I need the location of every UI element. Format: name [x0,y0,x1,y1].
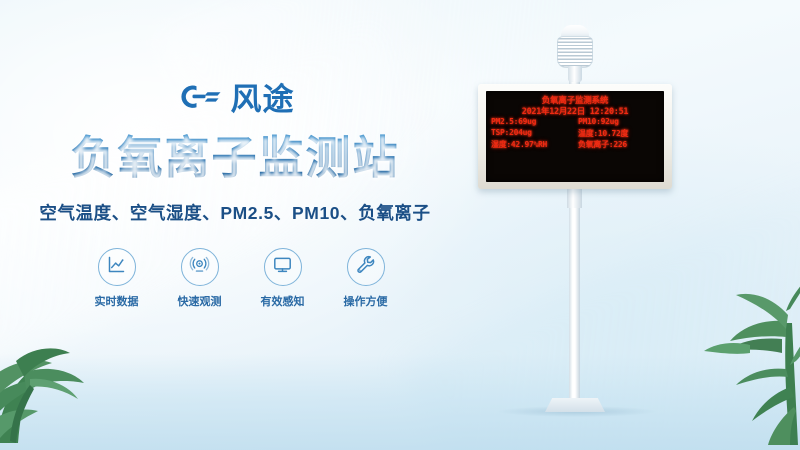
feature-label: 实时数据 [86,293,148,309]
feature-icon-frame [347,248,385,286]
radiation-shield-sensor-icon [550,25,600,77]
led-reading-pm10: PM10:92ug [578,117,619,126]
hero-subtitle: 空气温度、空气湿度、PM2.5、PM10、负氧离子 [0,200,470,225]
feature-label: 操作方便 [335,293,397,309]
promo-banner: 风途 负氧离子监测站 空气温度、空气湿度、PM2.5、PM10、负氧离子 [0,0,800,450]
line-chart-icon [106,254,127,280]
feature-list: 实时数据 快 [0,248,470,309]
sensor-louvers [557,36,593,68]
fengtu-g-logo-icon [176,82,222,117]
led-display-title: 负氧离子监测系统 [486,94,664,106]
monitor-screen-icon [272,254,293,280]
feature-item-effective-sensing[interactable]: 有效感知 [252,248,314,309]
page-title: 负氧离子监测站 [0,134,470,181]
feature-label: 快速观测 [169,293,231,309]
brand-name: 风途 [231,84,295,115]
feature-item-easy-operation[interactable]: 操作方便 [335,248,397,309]
feature-item-fast-observation[interactable]: 快速观测 [169,248,231,309]
background-ground-gradient [0,354,800,450]
feature-icon-frame [181,248,219,286]
brand-lockup: 风途 [0,78,470,120]
feature-item-realtime-data[interactable]: 实时数据 [86,248,148,309]
led-reading-pm25: PM2.5:69ug [491,117,536,126]
led-reading-negative-ions: 负氧离子:226 [578,139,627,150]
sensor-cap [561,25,589,38]
led-reading-tsp: TSP:204ug [491,128,532,137]
radar-scan-icon [189,254,210,280]
feature-label: 有效感知 [252,293,314,309]
display-mount-arm [567,178,582,208]
led-reading-humidity: 湿度:42.97%RH [491,139,547,150]
feature-icon-frame [98,248,136,286]
green-leaf-plant-icon [0,315,116,450]
hero-text-block: 风途 负氧离子监测站 空气温度、空气湿度、PM2.5、PM10、负氧离子 [0,78,470,309]
feature-icon-frame [264,248,302,286]
led-display-frame: 负氧离子监测系统 2021年12月22日 12:20:51 PM2.5:69ug… [478,84,672,189]
led-reading-temperature: 温度:10.72度 [578,128,628,139]
sensor-neck [568,66,582,82]
led-display-datetime: 2021年12月22日 12:20:51 [486,105,664,117]
green-leaf-plant-icon [686,275,800,450]
wrench-icon [355,254,376,280]
led-display-screen: 负氧离子监测系统 2021年12月22日 12:20:51 PM2.5:69ug… [486,91,664,182]
